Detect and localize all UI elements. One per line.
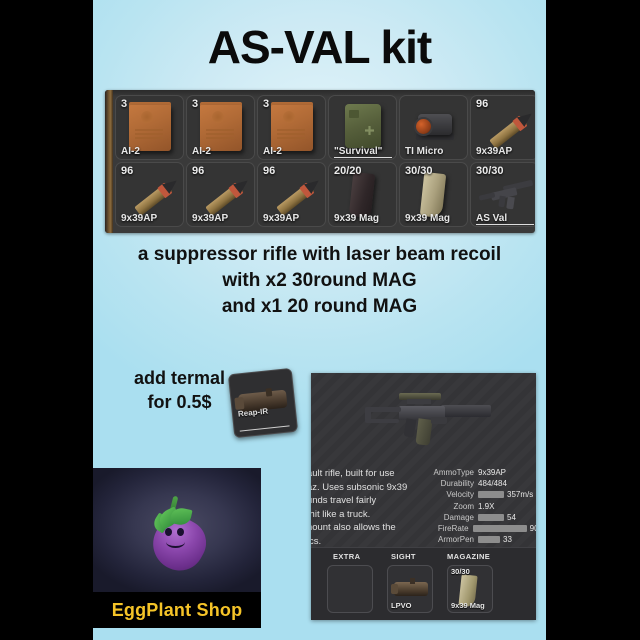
eggplant-smile bbox=[166, 536, 185, 548]
slot-count: 20/20 bbox=[334, 165, 362, 177]
slot-count: 96 bbox=[121, 165, 133, 177]
stat-value: 1.9X bbox=[478, 502, 494, 511]
stat-key: Zoom bbox=[431, 502, 478, 511]
thermal-offer: add termal for 0.5$ Reap-IR bbox=[107, 366, 252, 414]
slot-label: 9x39AP bbox=[263, 213, 299, 224]
description-line-1: a suppressor rifle with laser beam recoi… bbox=[93, 244, 546, 266]
weapon-description-line: ... hit like a truck. bbox=[311, 508, 434, 522]
inventory-slot[interactable]: 3AI-2 bbox=[115, 95, 184, 160]
eggplant-eye-right bbox=[177, 528, 184, 536]
stat-key: AmmoType bbox=[431, 468, 478, 477]
weapon-stat-row: AmmoType9x39AP bbox=[431, 467, 536, 478]
rifle-handguard bbox=[431, 417, 447, 424]
inventory-slot[interactable]: 20/209x39 Mag bbox=[328, 162, 397, 227]
weapon-mod-slots: EXTRASIGHTLPVOMAGAZINE30/309x39 Mag bbox=[311, 547, 536, 620]
weapon-description-line: ...unds travel fairly bbox=[311, 494, 434, 508]
stat-key: Damage bbox=[431, 513, 478, 522]
slot-underline bbox=[476, 224, 534, 226]
slot-count: 3 bbox=[192, 98, 198, 110]
rifle-grip bbox=[404, 418, 417, 437]
mod-slot-header: SIGHT bbox=[391, 552, 416, 561]
inventory-slot[interactable]: 30/30AS Val bbox=[470, 162, 535, 227]
slot-label: AS Val bbox=[476, 213, 507, 224]
slot-count: 96 bbox=[263, 165, 275, 177]
thermal-scope-underline bbox=[240, 425, 290, 431]
slot-underline bbox=[334, 157, 392, 159]
weapon-description-line: ...az. Uses subsonic 9x39 bbox=[311, 481, 434, 495]
mod-slot-count: 30/30 bbox=[451, 567, 470, 576]
stat-key: Velocity bbox=[431, 490, 478, 499]
eggplant-icon bbox=[141, 496, 215, 574]
stat-value: 900 bbox=[530, 524, 536, 533]
slot-label: 9x39 Mag bbox=[334, 213, 379, 224]
stat-bar bbox=[478, 514, 504, 521]
inventory-slot[interactable]: 969x39AP bbox=[115, 162, 184, 227]
slot-count: 3 bbox=[263, 98, 269, 110]
slot-count: 96 bbox=[192, 165, 204, 177]
weapon-stat-row: Velocity357m/s bbox=[431, 489, 536, 500]
mod-slot[interactable]: 30/309x39 Mag bbox=[447, 565, 493, 613]
mod-slot-header: EXTRA bbox=[333, 552, 360, 561]
weapon-description-line: ...nount also allows the bbox=[311, 521, 434, 535]
weapon-stat-row: FireRate900 bbox=[431, 523, 536, 534]
weapon-stat-row: Durability484/484 bbox=[431, 478, 536, 489]
rifle-scope-mount bbox=[407, 399, 431, 404]
weapon-detail-panel: ...ault rifle, built for use...az. Uses … bbox=[311, 373, 536, 620]
thermal-scope-label: Reap-IR bbox=[237, 400, 270, 427]
rifle-magazine bbox=[415, 418, 432, 446]
stat-value: 357m/s bbox=[507, 490, 533, 499]
description-line-3: and x1 20 round MAG bbox=[93, 296, 546, 318]
mod-slot-label: LPVO bbox=[391, 601, 411, 610]
inventory-slot[interactable]: 969x39AP bbox=[186, 162, 255, 227]
poster-content: AS-VAL kit 3AI-23AI-23AI-2"Survival"TI M… bbox=[93, 0, 546, 640]
mod-slot[interactable]: LPVO bbox=[387, 565, 433, 613]
shop-name-bar: EggPlant Shop bbox=[93, 592, 261, 628]
panel-left-strip bbox=[105, 90, 113, 233]
slot-label: AI-2 bbox=[263, 146, 282, 157]
slot-label: AI-2 bbox=[192, 146, 211, 157]
stat-bar bbox=[478, 536, 500, 543]
inventory-grid: 3AI-23AI-23AI-2"Survival"TI Micro969x39A… bbox=[115, 95, 535, 228]
slot-count: 96 bbox=[476, 98, 488, 110]
stat-value: 54 bbox=[507, 513, 516, 522]
eggplant-eye-left bbox=[165, 528, 172, 536]
inventory-slot[interactable]: 969x39AP bbox=[257, 162, 326, 227]
weapon-description: ...ault rifle, built for use...az. Uses … bbox=[311, 467, 434, 548]
weapon-preview bbox=[311, 373, 536, 461]
shop-logo bbox=[93, 468, 261, 593]
weapon-description-line: ...ics. bbox=[311, 535, 434, 549]
mod-slot-label: 9x39 Mag bbox=[451, 601, 485, 610]
slot-label: 9x39AP bbox=[121, 213, 157, 224]
rifle-stock-bottom bbox=[365, 419, 399, 423]
inventory-panel: 3AI-23AI-23AI-2"Survival"TI Micro969x39A… bbox=[105, 90, 535, 233]
mod-slot-header: MAGAZINE bbox=[447, 552, 490, 561]
stat-key: ArmorPen bbox=[431, 535, 478, 544]
stat-key: Durability bbox=[431, 479, 478, 488]
inventory-slot[interactable]: 969x39AP bbox=[470, 95, 535, 160]
as-val-rifle-render bbox=[359, 391, 504, 449]
weapon-stat-row: Zoom1.9X bbox=[431, 501, 536, 512]
slot-count: 3 bbox=[121, 98, 127, 110]
slot-label: 9x39AP bbox=[192, 213, 228, 224]
stat-bar bbox=[478, 491, 504, 498]
lpvo-scope-icon bbox=[394, 582, 428, 596]
rifle-suppressor bbox=[441, 405, 491, 417]
slot-label: 9x39 Mag bbox=[405, 213, 450, 224]
inventory-slot[interactable]: TI Micro bbox=[399, 95, 468, 160]
slot-count: 30/30 bbox=[476, 165, 504, 177]
page-title: AS-VAL kit bbox=[93, 20, 546, 74]
description-line-2: with x2 30round MAG bbox=[93, 270, 546, 292]
slot-label: AI-2 bbox=[121, 146, 140, 157]
weapon-description-line: ...ault rifle, built for use bbox=[311, 467, 434, 481]
thermal-scope-item: Reap-IR bbox=[228, 368, 298, 438]
stat-key: FireRate bbox=[431, 524, 473, 533]
slot-label: "Survival" bbox=[334, 146, 382, 157]
stat-value: 484/484 bbox=[478, 479, 507, 488]
slot-label: TI Micro bbox=[405, 146, 443, 157]
stat-value: 9x39AP bbox=[478, 468, 506, 477]
shop-name: EggPlant Shop bbox=[112, 600, 243, 621]
slot-count: 30/30 bbox=[405, 165, 433, 177]
weapon-stat-row: ArmorPen33 bbox=[431, 534, 536, 545]
inventory-slot[interactable]: "Survival" bbox=[328, 95, 397, 160]
inventory-slot[interactable]: 30/309x39 Mag bbox=[399, 162, 468, 227]
mod-slot[interactable] bbox=[327, 565, 373, 613]
inventory-slot[interactable]: 3AI-2 bbox=[186, 95, 255, 160]
weapon-stat-row: Damage54 bbox=[431, 512, 536, 523]
stat-bar bbox=[473, 525, 527, 532]
stat-value: 33 bbox=[503, 535, 512, 544]
screenshot-root: AS-VAL kit 3AI-23AI-23AI-2"Survival"TI M… bbox=[0, 0, 640, 640]
inventory-slot[interactable]: 3AI-2 bbox=[257, 95, 326, 160]
slot-label: 9x39AP bbox=[476, 146, 512, 157]
